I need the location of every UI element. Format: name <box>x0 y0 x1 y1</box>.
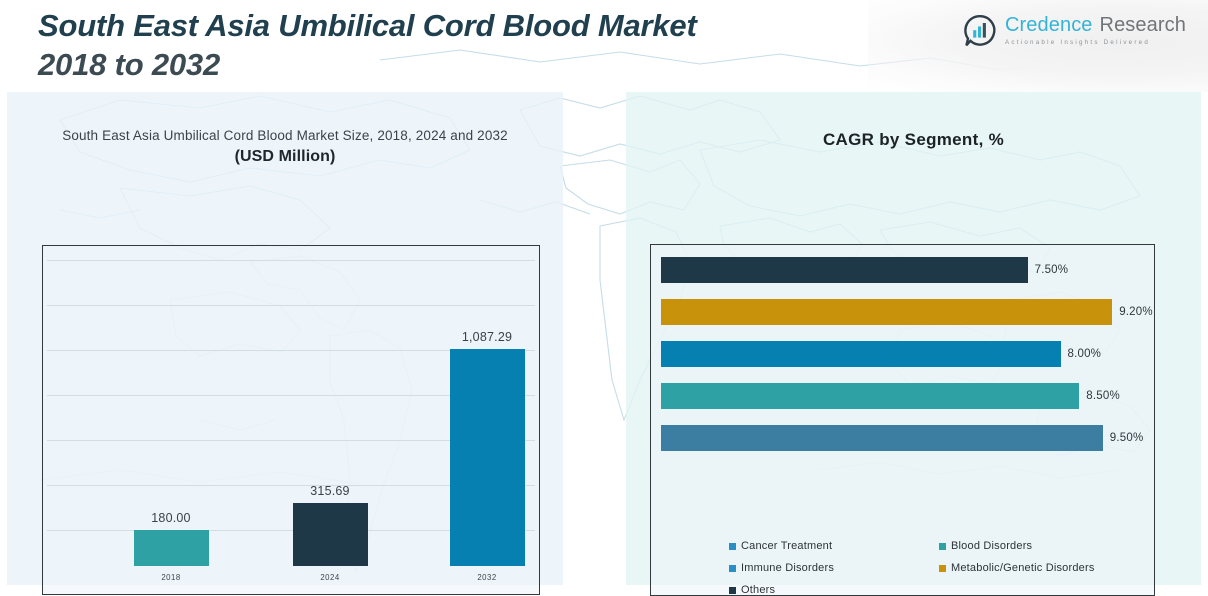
legend-label: Cancer Treatment <box>741 540 832 552</box>
legend-item[interactable]: Immune Disorders <box>729 557 939 579</box>
x-axis-label: 2018 <box>131 573 211 582</box>
bar-value-label: 9.20% <box>1119 306 1153 318</box>
left-chart-subtitle: (USD Million) <box>7 148 563 166</box>
legend-item[interactable]: Others <box>729 579 939 596</box>
bar <box>661 299 1112 325</box>
bar-value-label: 180.00 <box>151 511 190 525</box>
legend-swatch-icon <box>729 543 736 550</box>
bar-row: 7.50% <box>651 257 1154 283</box>
bar-value-label: 9.50% <box>1110 432 1144 444</box>
bar-value-label: 8.50% <box>1086 390 1120 402</box>
legend-label: Blood Disorders <box>951 540 1032 552</box>
cagr-by-segment-bar-chart: 7.50%9.20%8.00%8.50%9.50% Cancer Treatme… <box>650 244 1155 596</box>
legend-label: Metabolic/Genetic Disorders <box>951 562 1095 574</box>
legend-swatch-icon <box>729 587 736 594</box>
vertical-bars-group: 180.00315.691,087.29 <box>43 298 539 566</box>
logo-brand-primary: Credence <box>1005 15 1093 35</box>
bar <box>661 257 1028 283</box>
bar-value-label: 8.00% <box>1068 348 1102 360</box>
x-axis-label: 2024 <box>290 573 370 582</box>
bar <box>450 349 525 566</box>
bar <box>293 503 368 566</box>
legend-label: Others <box>741 584 775 596</box>
bar-row: 9.20% <box>651 299 1154 325</box>
bar-column: 180.00 <box>134 511 209 566</box>
legend-item[interactable]: Blood Disorders <box>939 535 1149 557</box>
logo-wordmark: Credence Research <box>1005 15 1186 35</box>
logo-tagline: Actionable Insights Delivered <box>1005 40 1186 46</box>
page-title-line-2: 2018 to 2032 <box>38 45 898 84</box>
horizontal-bars-group: 7.50%9.20%8.00%8.50%9.50% <box>651 257 1154 467</box>
logo-brand-secondary: Research <box>1100 15 1186 35</box>
bar-column: 1,087.29 <box>450 330 525 566</box>
page-title: South East Asia Umbilical Cord Blood Mar… <box>38 6 898 84</box>
bar <box>661 383 1079 409</box>
bar-value-label: 1,087.29 <box>462 330 512 344</box>
credence-logo-icon <box>963 14 997 48</box>
legend-swatch-icon <box>939 543 946 550</box>
left-chart-panel: South East Asia Umbilical Cord Blood Mar… <box>7 92 563 585</box>
bar <box>661 425 1103 451</box>
right-chart-title: CAGR by Segment, % <box>626 130 1201 150</box>
gridline <box>47 260 535 261</box>
brand-logo[interactable]: Credence Research Actionable Insights De… <box>963 14 1186 48</box>
market-size-bar-chart: 180.00315.691,087.29 201820242032 <box>42 245 540 595</box>
bar-value-label: 315.69 <box>310 484 349 498</box>
bar-column: 315.69 <box>293 484 368 566</box>
legend-item[interactable]: Cancer Treatment <box>729 535 939 557</box>
bar-row: 8.00% <box>651 341 1154 367</box>
bar <box>134 530 209 566</box>
bar-row: 9.50% <box>651 425 1154 451</box>
header: South East Asia Umbilical Cord Blood Mar… <box>0 0 1208 92</box>
legend-swatch-icon <box>939 565 946 572</box>
logo-text: Credence Research Actionable Insights De… <box>1005 15 1186 46</box>
legend-swatch-icon <box>729 565 736 572</box>
x-axis-ticks: 201820242032 <box>43 566 539 594</box>
legend-item[interactable]: Metabolic/Genetic Disorders <box>939 557 1149 579</box>
x-axis-label: 2032 <box>447 573 527 582</box>
legend-label: Immune Disorders <box>741 562 834 574</box>
bar-row: 8.50% <box>651 383 1154 409</box>
page-title-line-1: South East Asia Umbilical Cord Blood Mar… <box>38 6 898 45</box>
left-chart-title: South East Asia Umbilical Cord Blood Mar… <box>7 128 563 143</box>
bar-value-label: 7.50% <box>1035 264 1069 276</box>
bar <box>661 341 1061 367</box>
right-chart-panel: CAGR by Segment, % 7.50%9.20%8.00%8.50%9… <box>626 92 1201 585</box>
chart-legend: Cancer TreatmentBlood DisordersImmune Di… <box>729 535 1149 596</box>
